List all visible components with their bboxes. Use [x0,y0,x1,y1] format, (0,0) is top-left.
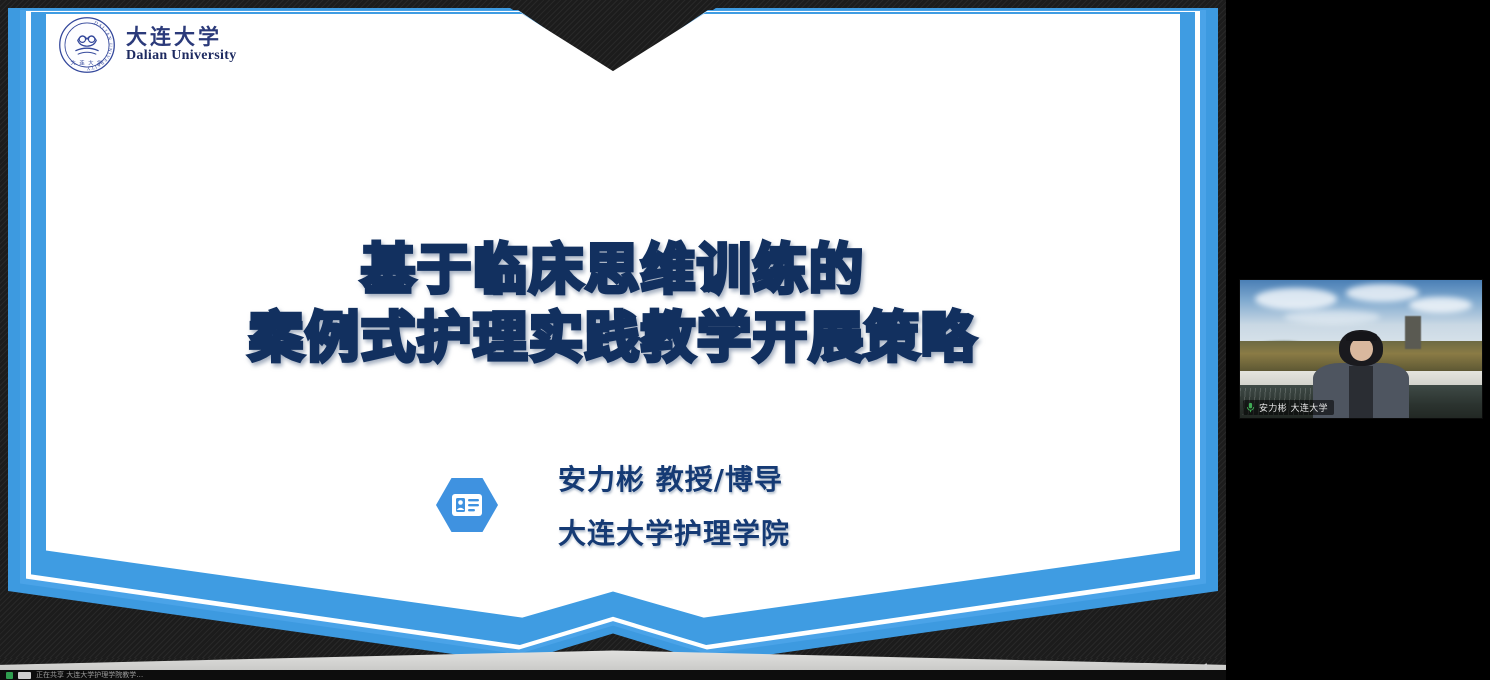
id-card-icon [436,476,498,534]
participant-video-tile[interactable]: 安力彬 大连大学 [1239,279,1483,419]
shared-slide-area[interactable]: DALIAN UNIVERSITY 大 连 大 学 大连大学 Dalian Un… [0,0,1226,680]
university-seal-icon: DALIAN UNIVERSITY 大 连 大 学 [58,16,116,74]
presenter-block: 安力彬 教授/博导 大连大学护理学院 [0,458,1226,552]
participant-bangs [1346,332,1376,340]
slide-title-line-1: 基于临床思维训练的 [0,236,1226,304]
sharing-active-indicator [6,672,13,679]
presenter-name-title: 安力彬 教授/博导 [558,458,790,498]
sharing-app-icon [18,672,31,679]
slide-title: 基于临床思维训练的 案例式护理实践教学开展策略 [0,236,1226,372]
participant-name-overlay: 安力彬 大连大学 [1243,400,1334,415]
participant-name-label: 安力彬 大连大学 [1259,401,1328,414]
video-background [1240,280,1482,418]
university-name-en: Dalian University [126,49,237,63]
sharing-status-bar[interactable]: 正在共享 大连大学护理学院教学… [0,670,1226,680]
university-name-cn: 大连大学 [126,27,237,48]
virtual-background-tower [1405,316,1422,349]
university-logo: DALIAN UNIVERSITY 大 连 大 学 大连大学 Dalian Un… [58,16,237,74]
presenter-text-lines: 安力彬 教授/博导 大连大学护理学院 [558,458,790,552]
slide-title-line-2: 案例式护理实践教学开展策略 [0,304,1226,372]
sharing-status-label: 正在共享 大连大学护理学院教学… [36,670,143,680]
microphone-icon [1246,402,1255,413]
participant-shirt [1349,366,1373,418]
screen-root: DALIAN UNIVERSITY 大 连 大 学 大连大学 Dalian Un… [0,0,1490,680]
university-logo-text: 大连大学 Dalian University [126,27,237,63]
presenter-affiliation: 大连大学护理学院 [558,512,790,552]
